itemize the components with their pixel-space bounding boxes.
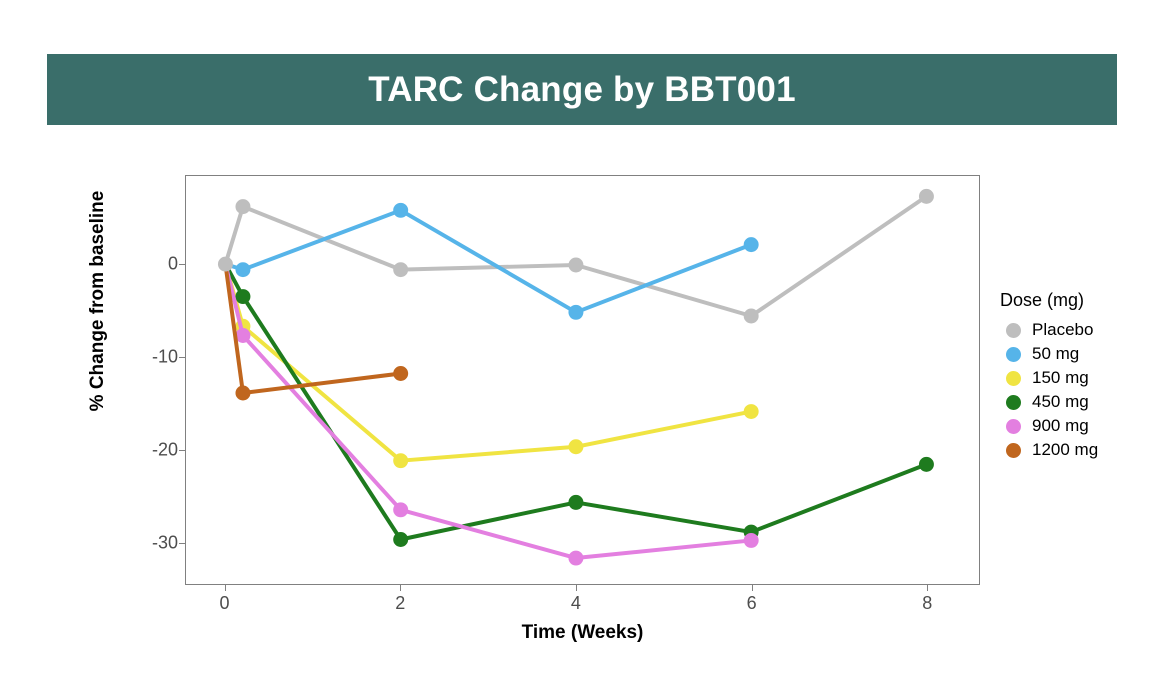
legend-dot-icon: [1006, 347, 1021, 362]
series-line: [225, 264, 751, 558]
legend-color-key-icon: [1000, 390, 1026, 414]
plot-series-svg: [186, 176, 979, 584]
legend-item-label: 450 mg: [1032, 392, 1089, 412]
series-line: [225, 264, 400, 393]
y-tick-label: -30: [118, 533, 178, 554]
legend-dot-icon: [1006, 419, 1021, 434]
data-point: [919, 189, 934, 204]
series-line: [225, 196, 926, 316]
data-point: [393, 203, 408, 218]
y-tick-label: -10: [118, 346, 178, 367]
y-tick-label: -20: [118, 439, 178, 460]
legend-color-key-icon: [1000, 342, 1026, 366]
x-tick-label: 4: [546, 593, 606, 614]
series-line: [225, 210, 751, 312]
data-point: [568, 305, 583, 320]
legend-item-placebo[interactable]: Placebo: [1000, 318, 1170, 342]
data-point: [393, 532, 408, 547]
x-tick-mark: [752, 585, 753, 591]
title-banner: TARC Change by BBT001: [47, 54, 1117, 125]
x-tick-label: 8: [897, 593, 957, 614]
x-tick-mark: [400, 585, 401, 591]
data-point: [568, 495, 583, 510]
legend-color-key-icon: [1000, 414, 1026, 438]
data-point: [235, 386, 250, 401]
data-point: [568, 258, 583, 273]
data-point: [568, 551, 583, 566]
x-axis-title: Time (Weeks): [185, 622, 980, 644]
legend-item-1200-mg[interactable]: 1200 mg: [1000, 438, 1170, 462]
legend-items: Placebo50 mg150 mg450 mg900 mg1200 mg: [1000, 318, 1170, 462]
x-tick-mark: [576, 585, 577, 591]
data-point: [393, 502, 408, 517]
legend-item-label: 150 mg: [1032, 368, 1089, 388]
legend-dot-icon: [1006, 395, 1021, 410]
legend: Dose (mg) Placebo50 mg150 mg450 mg900 mg…: [1000, 290, 1170, 462]
data-point: [744, 237, 759, 252]
legend-item-label: 900 mg: [1032, 416, 1089, 436]
data-point: [393, 453, 408, 468]
legend-item-label: Placebo: [1032, 320, 1093, 340]
data-point: [919, 457, 934, 472]
series-placebo: [225, 189, 933, 324]
series-50-mg: [225, 203, 758, 320]
plot-panel: [185, 175, 980, 585]
x-tick-label: 0: [195, 593, 255, 614]
y-axis-tick-labels: 0-10-20-30: [110, 175, 178, 585]
data-point: [235, 262, 250, 277]
data-point: [393, 366, 408, 381]
legend-item-150-mg[interactable]: 150 mg: [1000, 366, 1170, 390]
legend-item-450-mg[interactable]: 450 mg: [1000, 390, 1170, 414]
legend-item-label: 50 mg: [1032, 344, 1079, 364]
y-axis-tick-marks: [172, 175, 185, 585]
data-point: [744, 309, 759, 324]
legend-dot-icon: [1006, 443, 1021, 458]
data-point: [568, 439, 583, 454]
y-axis-title: % Change from baseline: [87, 141, 109, 461]
x-tick-label: 6: [722, 593, 782, 614]
legend-color-key-icon: [1000, 438, 1026, 462]
legend-color-key-icon: [1000, 366, 1026, 390]
legend-item-label: 1200 mg: [1032, 440, 1098, 460]
chart-figure: % Change from baseline 0-10-20-30 02468 …: [0, 130, 1174, 698]
data-point: [393, 262, 408, 277]
x-axis-tick-labels: 02468: [185, 593, 980, 619]
data-point: [235, 199, 250, 214]
legend-dot-icon: [1006, 371, 1021, 386]
legend-color-key-icon: [1000, 318, 1026, 342]
legend-item-900-mg[interactable]: 900 mg: [1000, 414, 1170, 438]
data-point: [744, 533, 759, 548]
page-title: TARC Change by BBT001: [368, 70, 796, 110]
y-tick-label: 0: [118, 253, 178, 274]
x-tick-mark: [927, 585, 928, 591]
data-point: [744, 404, 759, 419]
x-tick-mark: [225, 585, 226, 591]
x-tick-label: 2: [370, 593, 430, 614]
legend-title: Dose (mg): [1000, 290, 1170, 311]
data-point: [218, 257, 233, 272]
data-point: [235, 289, 250, 304]
legend-dot-icon: [1006, 323, 1021, 338]
legend-item-50-mg[interactable]: 50 mg: [1000, 342, 1170, 366]
